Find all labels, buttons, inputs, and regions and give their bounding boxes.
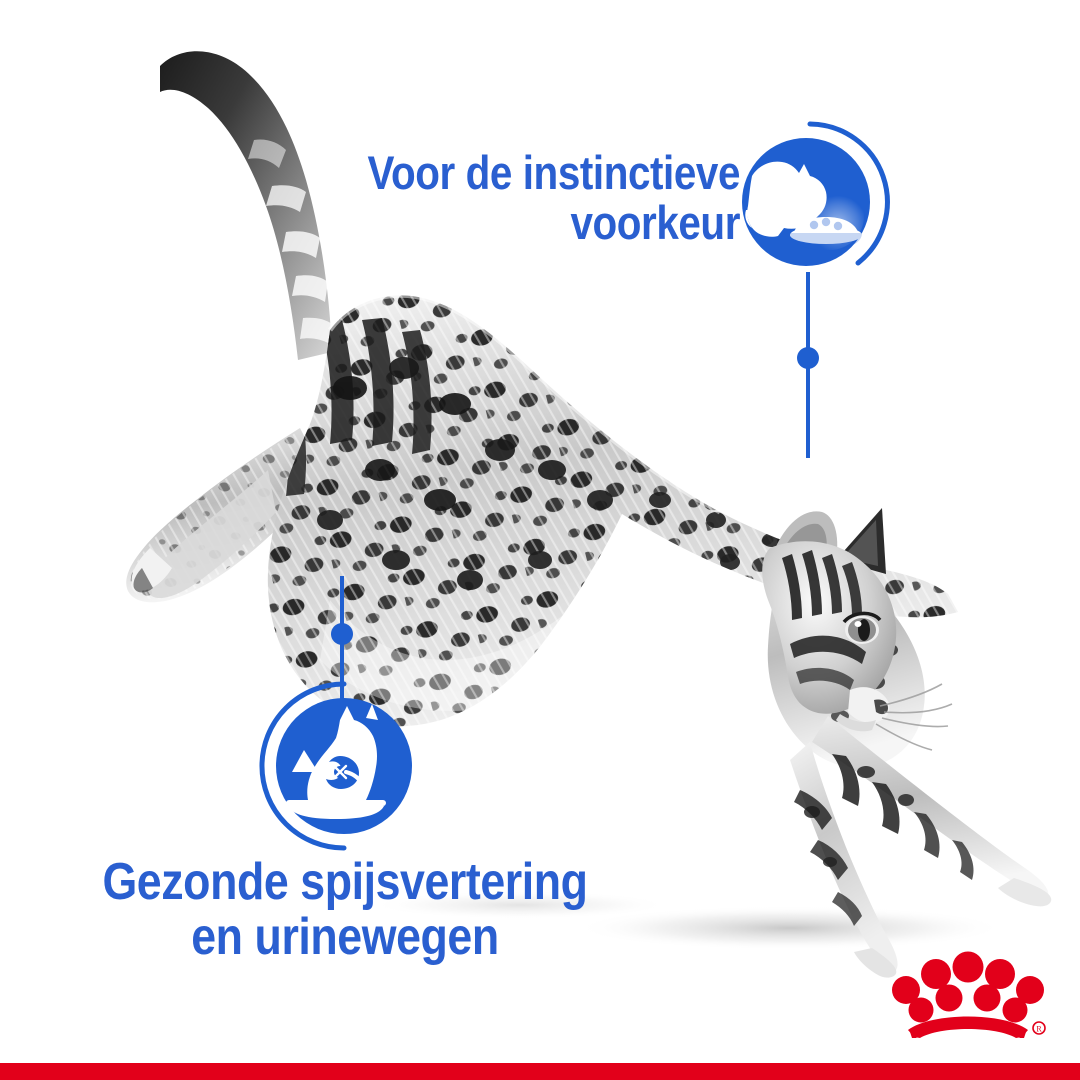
- crown-dot: [985, 959, 1015, 989]
- crown-dot: [953, 952, 984, 983]
- cat-hind-legs: [120, 420, 350, 620]
- cat-neck-chest: [768, 540, 925, 768]
- svg-text:R: R: [1036, 1025, 1042, 1034]
- cat-tail: [160, 51, 332, 360]
- benefit-label-instinctive-preference: Voor de instinctieve voorkeur: [319, 148, 740, 248]
- connector-dot-bottom: [331, 623, 353, 645]
- footer-red-bar: [0, 1063, 1080, 1080]
- benefit-icon-digestive-urinary-health: [248, 676, 426, 854]
- cat-eye: [845, 616, 879, 644]
- benefit-icon-instinctive-preference: [726, 118, 894, 286]
- connector-dot-top: [797, 347, 819, 369]
- marketing-banner: Voor de instinctieve voorkeur: [0, 0, 1080, 1080]
- benefit-label-digestive-urinary-health: Gezonde spijsvertering en urinewegen: [100, 855, 590, 965]
- cat-whiskers: [876, 684, 952, 750]
- cat-head: [762, 508, 952, 750]
- crown-dot: [974, 985, 1001, 1012]
- royal-canin-crown-logo: R: [888, 938, 1048, 1038]
- crown-dot: [1003, 998, 1028, 1023]
- crown-dot: [936, 985, 963, 1012]
- registered-mark: R: [1033, 1022, 1045, 1034]
- crown-dot: [921, 959, 951, 989]
- crown-dot: [909, 998, 934, 1023]
